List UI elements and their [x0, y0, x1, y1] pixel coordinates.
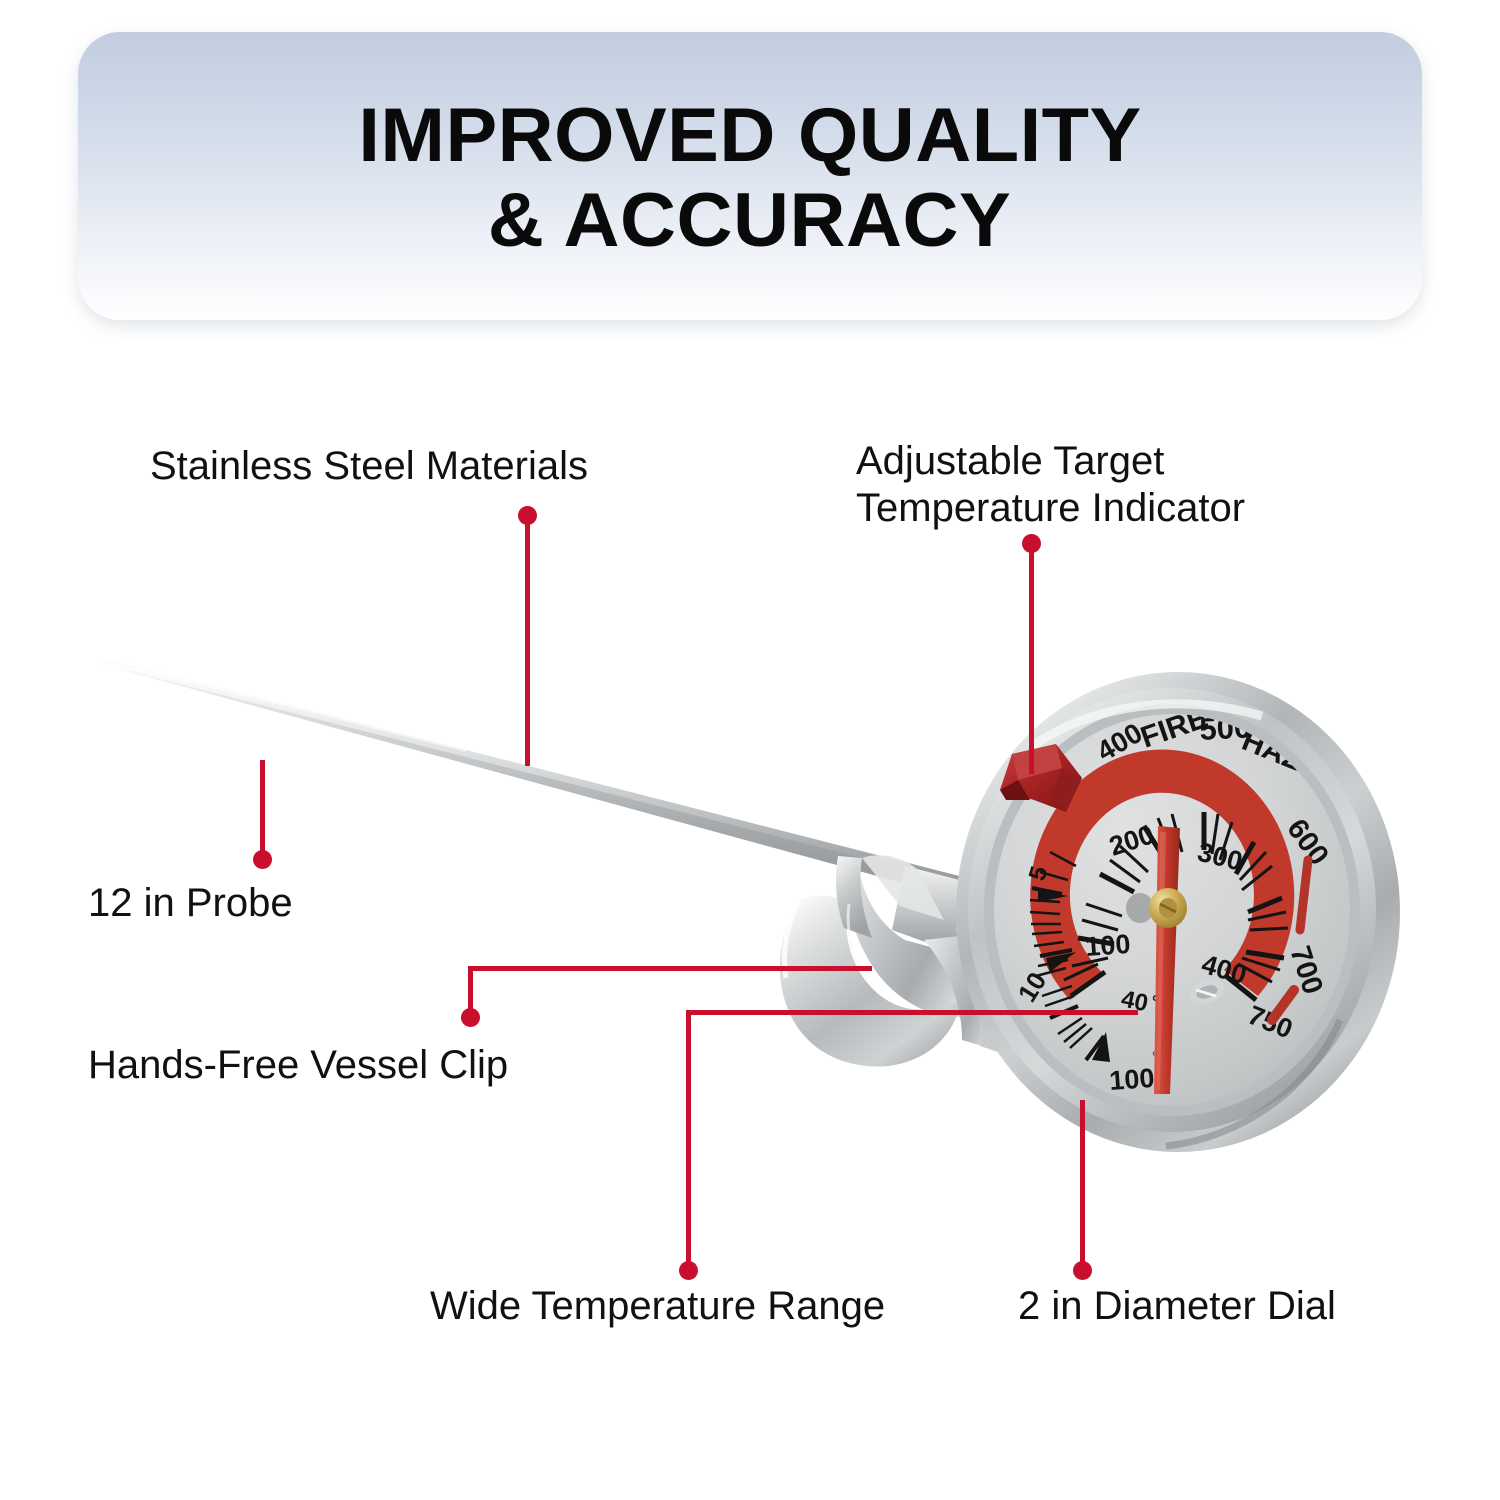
calibration-screw	[1186, 976, 1227, 1008]
svg-text:°C: °C	[1152, 992, 1172, 1012]
svg-text:FIRE: FIRE	[1137, 701, 1212, 754]
callout-line-hands-free-vessel-clip-vertical	[468, 968, 473, 1014]
svg-text:400: 400	[1198, 949, 1250, 990]
callout-label-dial-diameter: 2 in Diameter Dial	[1018, 1283, 1336, 1330]
banner-title-line-2: & ACCURACY	[488, 178, 1011, 263]
callout-label-stainless-steel-materials: Stainless Steel Materials	[150, 443, 588, 490]
vessel-clip	[780, 855, 1017, 1066]
svg-text:10: 10	[1012, 967, 1053, 1007]
svg-text:300: 300	[1195, 837, 1246, 877]
callout-label-hands-free-vessel-clip: Hands-Free Vessel Clip	[88, 1042, 508, 1089]
svg-text:100: 100	[1084, 929, 1131, 962]
needle	[1154, 826, 1180, 1094]
svg-text:500: 500	[1199, 709, 1252, 747]
svg-text:5: 5	[1024, 863, 1054, 883]
callout-label-wide-temperature-range: Wide Temperature Range	[430, 1283, 885, 1330]
probe-shaft	[97, 659, 975, 900]
callout-label-line-1: Adjustable Target	[856, 438, 1326, 485]
center-hub	[1126, 888, 1187, 928]
svg-text:°F: °F	[1152, 1049, 1168, 1066]
callout-label-adjustable-target-temperature-indicator: Adjustable Target Temperature Indicator	[856, 438, 1326, 532]
banner-title-line-1: IMPROVED QUALITY	[358, 93, 1141, 178]
svg-text:750: 750	[1244, 1000, 1297, 1045]
svg-text:100: 100	[1108, 1063, 1155, 1096]
callout-line-stainless-steel-materials	[525, 512, 530, 766]
svg-text:200: 200	[1106, 819, 1158, 861]
dial-text: 400 FIRE 500 HAZARD 600 700 750 200 300 …	[1012, 701, 1368, 1096]
callout-line-dial-diameter	[1080, 1100, 1085, 1268]
svg-text:HAZARD: HAZARD	[1237, 724, 1367, 802]
probe-stem	[892, 866, 995, 960]
hazard-band	[1030, 750, 1294, 1000]
callout-line-probe-length	[260, 760, 265, 856]
scale-dashes	[1272, 860, 1308, 1020]
callout-line-hands-free-vessel-clip-horizontal	[468, 966, 872, 971]
target-indicator	[1000, 744, 1082, 812]
svg-text:700: 700	[1283, 942, 1328, 998]
fahrenheit-ticks	[1064, 812, 1288, 1000]
svg-text:400: 400	[1092, 717, 1148, 767]
callout-label-probe-length: 12 in Probe	[88, 880, 293, 927]
gauge-bezel	[956, 672, 1400, 1152]
dial-face: 400 FIRE 500 HAZARD 600 700 750 200 300 …	[1012, 701, 1368, 1096]
infographic-canvas: IMPROVED QUALITY & ACCURACY	[0, 0, 1500, 1500]
celsius-ticks	[1030, 852, 1110, 1062]
callout-line-wide-temperature-range-vertical	[686, 1012, 691, 1268]
header-banner: IMPROVED QUALITY & ACCURACY	[78, 32, 1422, 320]
callout-line-adjustable-target-temperature-indicator	[1029, 540, 1034, 774]
callout-label-line-2: Temperature Indicator	[856, 485, 1326, 532]
svg-text:600: 600	[1280, 813, 1334, 871]
callout-line-wide-temperature-range-horizontal	[686, 1010, 1138, 1015]
